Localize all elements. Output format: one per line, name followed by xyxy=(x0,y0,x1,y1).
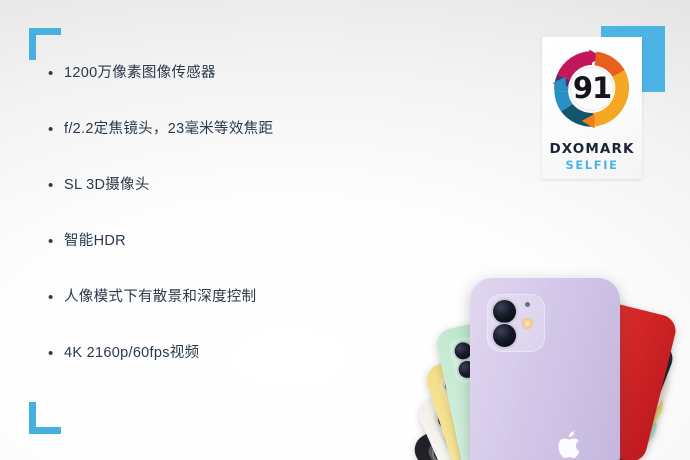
bracket-vertical-bar xyxy=(29,402,36,434)
dxomark-badge: 91 DXOMARK SELFIE xyxy=(542,37,642,179)
apple-logo xyxy=(556,428,586,460)
corner-bracket-bottom-left-icon xyxy=(29,402,61,434)
spec-bullet-list: • 1200万像素图像传感器 • f/2.2定焦镜头，23毫米等效焦距 • SL… xyxy=(48,62,448,398)
bracket-vertical-bar xyxy=(29,28,36,60)
list-item: • 人像模式下有散景和深度控制 xyxy=(48,286,448,342)
list-item: • 智能HDR xyxy=(48,230,448,286)
dxomark-ring-icon: 91 xyxy=(549,46,635,132)
dxomark-subtitle: SELFIE xyxy=(542,158,642,172)
dxomark-wordmark: DXOMARK xyxy=(542,141,642,157)
corner-bracket-top-left-icon xyxy=(29,28,61,60)
list-item-label: SL 3D摄像头 xyxy=(64,174,150,196)
bullet-marker-icon: • xyxy=(48,174,64,197)
list-item-label: 人像模式下有散景和深度控制 xyxy=(64,286,256,308)
slide-canvas: • 1200万像素图像传感器 • f/2.2定焦镜头，23毫米等效焦距 • SL… xyxy=(0,0,690,460)
bullet-marker-icon: • xyxy=(48,286,64,309)
camera-module xyxy=(487,294,545,352)
bullet-marker-icon: • xyxy=(48,230,64,253)
flash-icon xyxy=(522,318,533,329)
iphone-color-fan-photo xyxy=(390,246,690,460)
list-item: • 1200万像素图像传感器 xyxy=(48,62,448,118)
bullet-marker-icon: • xyxy=(48,342,64,365)
dxomark-score-value: 91 xyxy=(549,46,635,132)
bullet-marker-icon: • xyxy=(48,118,64,141)
bullet-marker-icon: • xyxy=(48,62,64,85)
list-item: • SL 3D摄像头 xyxy=(48,174,448,230)
list-item-label: f/2.2定焦镜头，23毫米等效焦距 xyxy=(64,118,273,140)
list-item-label: 1200万像素图像传感器 xyxy=(64,62,216,84)
list-item-label: 智能HDR xyxy=(64,230,126,252)
phone-purple-front xyxy=(470,278,620,460)
list-item: • f/2.2定焦镜头，23毫米等效焦距 xyxy=(48,118,448,174)
list-item-label: 4K 2160p/60fps视频 xyxy=(64,342,199,364)
list-item: • 4K 2160p/60fps视频 xyxy=(48,342,448,398)
microphone-icon xyxy=(525,302,530,307)
